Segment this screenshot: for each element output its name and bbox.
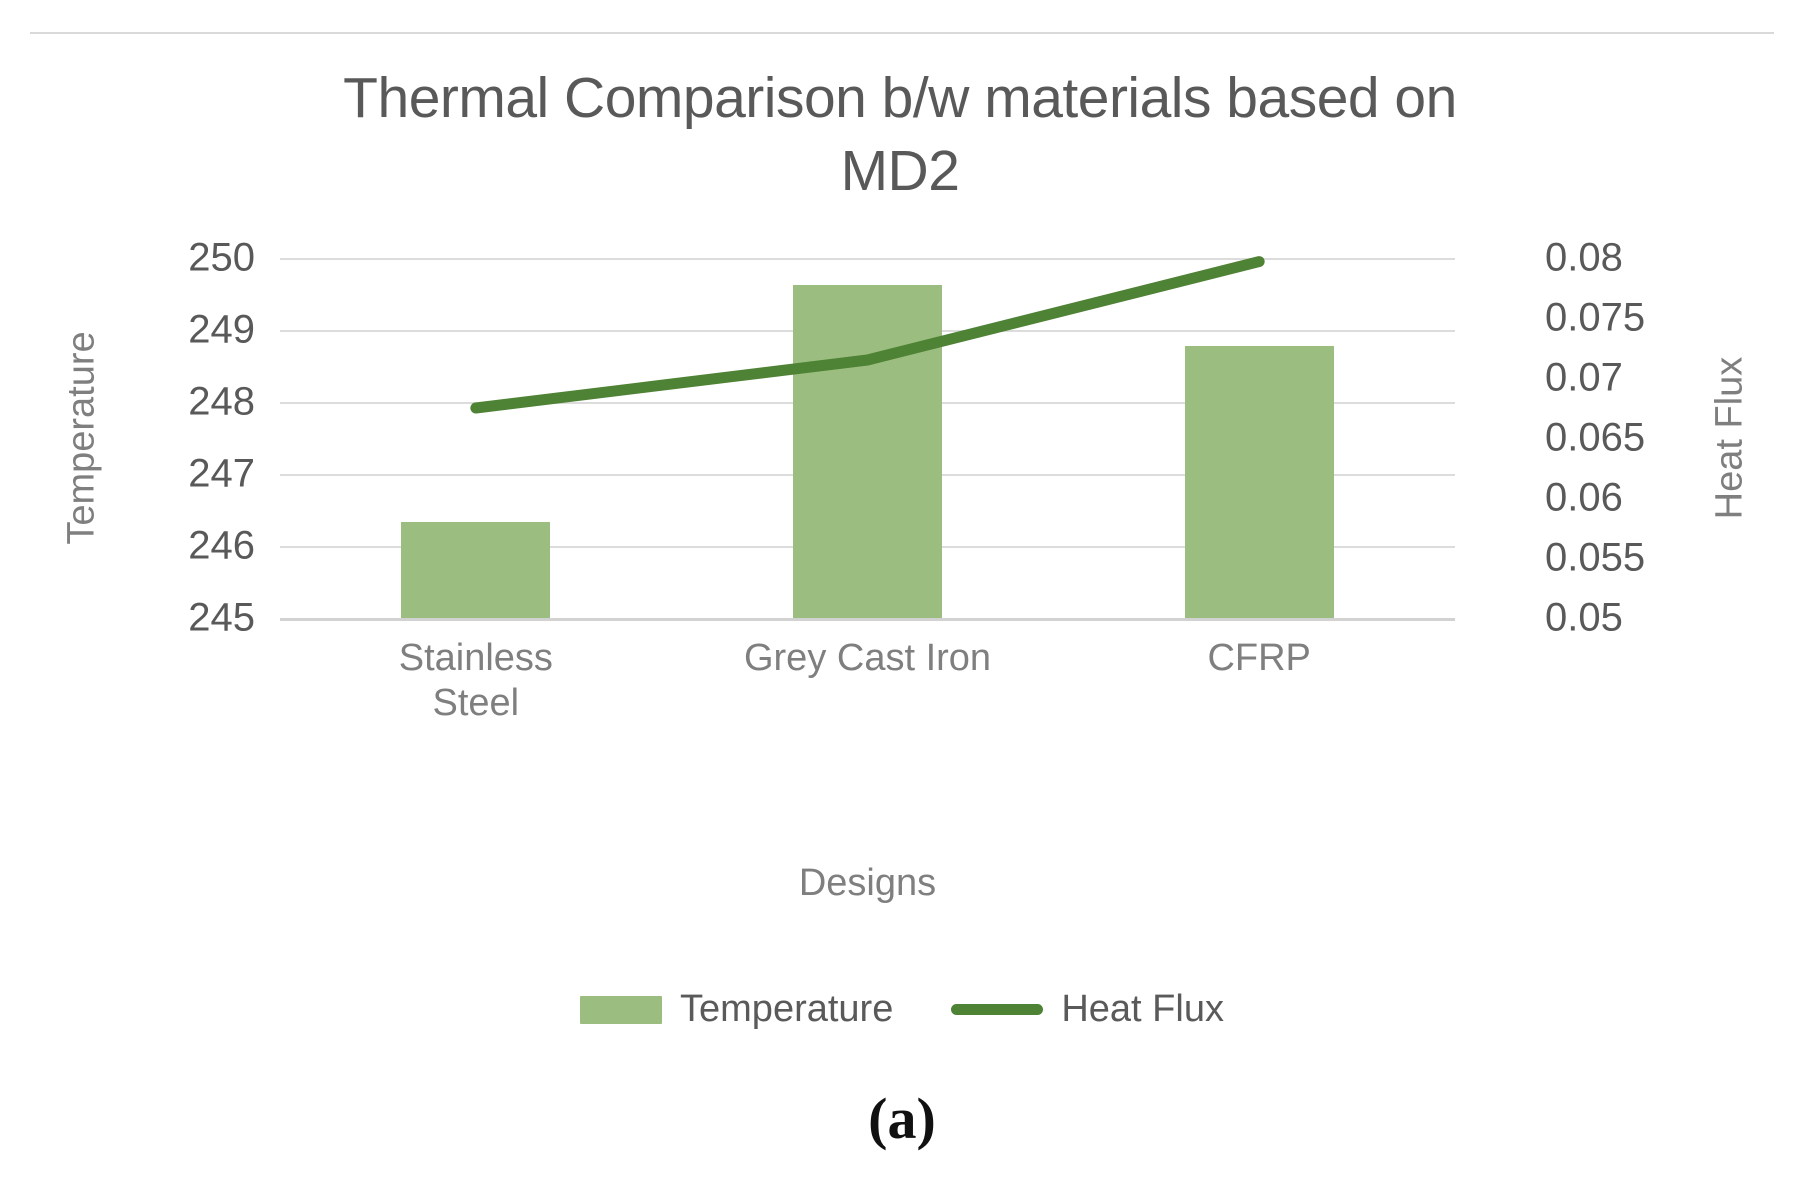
plot-area [280, 258, 1455, 618]
y-tick-label-left: 250 [188, 236, 255, 281]
x-category-label-line: CFRP [1063, 636, 1455, 681]
x-category-label-line: Stainless [280, 636, 672, 681]
chart-title: Thermal Comparison b/w materials based o… [200, 62, 1600, 208]
y-tick-label-right: 0.05 [1545, 596, 1623, 641]
x-category-label: CFRP [1063, 636, 1455, 776]
legend-item-temperature[interactable]: Temperature [580, 988, 893, 1031]
bar [401, 522, 550, 618]
y-tick-label-right: 0.06 [1545, 476, 1623, 521]
gridline [280, 258, 1455, 260]
gridline [280, 618, 1455, 621]
y-tick-label-right: 0.07 [1545, 356, 1623, 401]
y-axis-title-left: Temperature [61, 331, 104, 544]
legend-item-heat-flux[interactable]: Heat Flux [951, 988, 1224, 1031]
bar [1185, 346, 1334, 618]
y-tick-label-right: 0.065 [1545, 416, 1645, 461]
bar [793, 285, 942, 618]
y-tick-label-left: 249 [188, 308, 255, 353]
y-tick-label-left: 245 [188, 596, 255, 641]
legend-line-swatch-icon [951, 1004, 1043, 1015]
chart-title-line-1: Thermal Comparison b/w materials based o… [200, 62, 1600, 135]
legend-label-temperature: Temperature [680, 988, 893, 1031]
x-axis-title: Designs [280, 862, 1455, 905]
y-tick-label-right: 0.055 [1545, 536, 1645, 581]
chart-title-line-2: MD2 [200, 135, 1600, 208]
figure-caption: (a) [0, 1085, 1804, 1152]
x-category-label: Grey Cast Iron [672, 636, 1064, 776]
legend-bar-swatch-icon [580, 996, 662, 1024]
x-category-label-line: Steel [280, 681, 672, 726]
x-category-label-line: Grey Cast Iron [672, 636, 1064, 681]
chart-figure: Thermal Comparison b/w materials based o… [0, 0, 1804, 1200]
y-axis-left-ticks: 250249248247246245 [130, 258, 255, 618]
y-tick-label-left: 248 [188, 380, 255, 425]
y-axis-title-right: Heat Flux [1709, 357, 1752, 520]
y-tick-label-right: 0.08 [1545, 236, 1623, 281]
y-tick-label-left: 246 [188, 524, 255, 569]
chart-legend: Temperature Heat Flux [0, 988, 1804, 1031]
y-tick-label-left: 247 [188, 452, 255, 497]
x-axis-category-labels: StainlessSteelGrey Cast IronCFRP [280, 636, 1455, 776]
x-category-label: StainlessSteel [280, 636, 672, 776]
y-tick-label-right: 0.075 [1545, 296, 1645, 341]
legend-label-heat-flux: Heat Flux [1061, 988, 1224, 1031]
y-axis-right-ticks: 0.080.0750.070.0650.060.0550.05 [1545, 258, 1705, 618]
